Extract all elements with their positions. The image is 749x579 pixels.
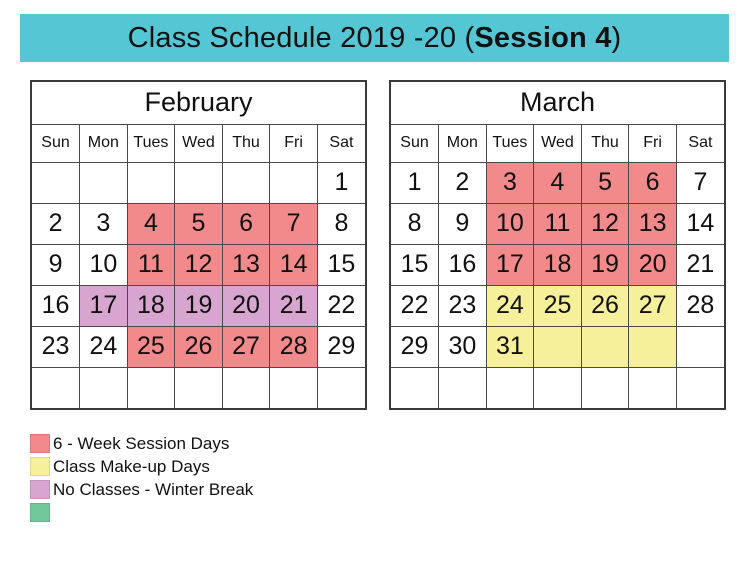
day-cell-february-5[interactable]: 5	[175, 203, 223, 244]
week-row: 15161718192021	[391, 244, 724, 285]
week-row: 891011121314	[391, 203, 724, 244]
day-cell-march-23[interactable]: 23	[439, 285, 487, 326]
day-header-thu: Thu	[581, 124, 629, 162]
day-cell-february-11[interactable]: 11	[127, 244, 175, 285]
day-cell-empty	[317, 367, 365, 408]
week-row: 1234567	[391, 162, 724, 203]
day-cell-february-22[interactable]: 22	[317, 285, 365, 326]
page-title-session: Session 4	[474, 22, 611, 54]
day-cell-february-6[interactable]: 6	[222, 203, 270, 244]
day-cell-empty	[32, 162, 80, 203]
day-cell-march-18[interactable]: 18	[534, 244, 582, 285]
day-cell-empty	[439, 367, 487, 408]
day-cell-march-8[interactable]: 8	[391, 203, 439, 244]
day-cell-empty	[80, 367, 128, 408]
day-cell-february-21[interactable]: 21	[270, 285, 318, 326]
day-cell-february-7[interactable]: 7	[270, 203, 318, 244]
day-cell-february-2[interactable]: 2	[32, 203, 80, 244]
day-cell-march-26[interactable]: 26	[581, 285, 629, 326]
day-cell-march-11[interactable]: 11	[534, 203, 582, 244]
day-cell-march-15[interactable]: 15	[391, 244, 439, 285]
day-cell-empty	[534, 367, 582, 408]
calendar-february: FebruarySunMonTuesWedThuFriSat1234567891…	[30, 80, 367, 410]
day-cell-march-6[interactable]: 6	[629, 162, 677, 203]
day-header-sun: Sun	[391, 124, 439, 162]
day-header-row: SunMonTuesWedThuFriSat	[391, 124, 724, 162]
day-header-fri: Fri	[270, 124, 318, 162]
day-header-row: SunMonTuesWedThuFriSat	[32, 124, 365, 162]
page-title: Class Schedule 2019 -20 (Session 4)	[128, 22, 622, 55]
day-cell-march-21[interactable]: 21	[676, 244, 724, 285]
legend-label: No Classes - Winter Break	[53, 480, 253, 499]
month-title-february: February	[32, 82, 365, 124]
legend-item: No Classes - Winter Break	[30, 478, 450, 500]
week-row	[391, 367, 724, 408]
day-header-sun: Sun	[32, 124, 80, 162]
day-header-fri: Fri	[629, 124, 677, 162]
day-cell-february-27[interactable]: 27	[222, 326, 270, 367]
day-header-wed: Wed	[534, 124, 582, 162]
day-cell-february-18[interactable]: 18	[127, 285, 175, 326]
day-cell-february-24[interactable]: 24	[80, 326, 128, 367]
day-header-thu: Thu	[222, 124, 270, 162]
legend-item: 6 - Week Session Days	[30, 432, 450, 454]
month-title-row: March	[391, 82, 724, 124]
day-cell-march-19[interactable]: 19	[581, 244, 629, 285]
day-cell-february-12[interactable]: 12	[175, 244, 223, 285]
page-title-suffix: )	[612, 22, 622, 54]
day-cell-february-19[interactable]: 19	[175, 285, 223, 326]
day-cell-march-14[interactable]: 14	[676, 203, 724, 244]
day-cell-february-20[interactable]: 20	[222, 285, 270, 326]
day-cell-march-29[interactable]: 29	[391, 326, 439, 367]
legend-swatch-red-icon	[30, 434, 50, 453]
day-cell-february-13[interactable]: 13	[222, 244, 270, 285]
day-cell-february-29[interactable]: 29	[317, 326, 365, 367]
calendar-grid-march: MarchSunMonTuesWedThuFriSat1234567891011…	[391, 82, 724, 408]
day-cell-empty	[222, 367, 270, 408]
day-cell-march-10[interactable]: 10	[486, 203, 534, 244]
day-cell-empty	[581, 326, 629, 367]
day-cell-march-12[interactable]: 12	[581, 203, 629, 244]
day-cell-empty	[629, 367, 677, 408]
day-cell-march-27[interactable]: 27	[629, 285, 677, 326]
legend-swatch-purple-icon	[30, 480, 50, 499]
day-header-tues: Tues	[486, 124, 534, 162]
day-cell-empty	[175, 162, 223, 203]
day-cell-march-17[interactable]: 17	[486, 244, 534, 285]
day-cell-march-2[interactable]: 2	[439, 162, 487, 203]
day-cell-march-9[interactable]: 9	[439, 203, 487, 244]
day-cell-february-15[interactable]: 15	[317, 244, 365, 285]
week-row: 293031	[391, 326, 724, 367]
week-row	[32, 367, 365, 408]
day-cell-empty	[534, 326, 582, 367]
day-cell-february-1[interactable]: 1	[317, 162, 365, 203]
week-row: 2345678	[32, 203, 365, 244]
day-cell-march-3[interactable]: 3	[486, 162, 534, 203]
day-cell-empty	[676, 367, 724, 408]
day-cell-empty	[222, 162, 270, 203]
day-cell-february-3[interactable]: 3	[80, 203, 128, 244]
week-row: 23242526272829	[32, 326, 365, 367]
title-banner: Class Schedule 2019 -20 (Session 4)	[20, 14, 729, 62]
day-header-mon: Mon	[439, 124, 487, 162]
calendar-grid-february: FebruarySunMonTuesWedThuFriSat1234567891…	[32, 82, 365, 408]
day-header-mon: Mon	[80, 124, 128, 162]
legend-item: Class Make-up Days	[30, 455, 450, 477]
day-cell-empty	[32, 367, 80, 408]
day-cell-february-8[interactable]: 8	[317, 203, 365, 244]
legend: 6 - Week Session DaysClass Make-up DaysN…	[30, 432, 450, 524]
legend-label: 6 - Week Session Days	[53, 434, 229, 453]
day-cell-march-4[interactable]: 4	[534, 162, 582, 203]
day-cell-february-28[interactable]: 28	[270, 326, 318, 367]
day-cell-march-1[interactable]: 1	[391, 162, 439, 203]
day-cell-march-25[interactable]: 25	[534, 285, 582, 326]
day-cell-february-4[interactable]: 4	[127, 203, 175, 244]
day-cell-february-14[interactable]: 14	[270, 244, 318, 285]
day-header-wed: Wed	[175, 124, 223, 162]
day-cell-march-5[interactable]: 5	[581, 162, 629, 203]
day-cell-empty	[629, 326, 677, 367]
day-cell-february-25[interactable]: 25	[127, 326, 175, 367]
day-cell-empty	[581, 367, 629, 408]
month-title-march: March	[391, 82, 724, 124]
day-cell-february-26[interactable]: 26	[175, 326, 223, 367]
day-cell-february-10[interactable]: 10	[80, 244, 128, 285]
legend-swatch-green-icon	[30, 503, 50, 522]
week-row: 1	[32, 162, 365, 203]
day-cell-march-20[interactable]: 20	[629, 244, 677, 285]
day-cell-empty	[270, 367, 318, 408]
day-cell-march-30[interactable]: 30	[439, 326, 487, 367]
day-cell-february-23[interactable]: 23	[32, 326, 80, 367]
week-row: 22232425262728	[391, 285, 724, 326]
week-row: 9101112131415	[32, 244, 365, 285]
day-cell-march-22[interactable]: 22	[391, 285, 439, 326]
day-cell-empty	[391, 367, 439, 408]
day-cell-february-9[interactable]: 9	[32, 244, 80, 285]
calendar-march: MarchSunMonTuesWedThuFriSat1234567891011…	[389, 80, 726, 410]
legend-item	[30, 501, 450, 523]
day-cell-empty	[270, 162, 318, 203]
day-cell-march-28[interactable]: 28	[676, 285, 724, 326]
day-cell-february-17[interactable]: 17	[80, 285, 128, 326]
day-header-sat: Sat	[676, 124, 724, 162]
legend-label: Class Make-up Days	[53, 457, 210, 476]
day-cell-empty	[175, 367, 223, 408]
day-cell-march-7[interactable]: 7	[676, 162, 724, 203]
page-title-prefix: Class Schedule 2019 -20 (	[128, 22, 475, 54]
week-row: 16171819202122	[32, 285, 365, 326]
day-cell-empty	[486, 367, 534, 408]
day-cell-empty	[80, 162, 128, 203]
day-header-sat: Sat	[317, 124, 365, 162]
day-cell-march-16[interactable]: 16	[439, 244, 487, 285]
day-cell-empty	[127, 367, 175, 408]
day-cell-march-13[interactable]: 13	[629, 203, 677, 244]
day-cell-march-31[interactable]: 31	[486, 326, 534, 367]
month-title-row: February	[32, 82, 365, 124]
day-header-tues: Tues	[127, 124, 175, 162]
day-cell-february-16[interactable]: 16	[32, 285, 80, 326]
legend-swatch-yellow-icon	[30, 457, 50, 476]
day-cell-empty	[127, 162, 175, 203]
day-cell-march-24[interactable]: 24	[486, 285, 534, 326]
day-cell-empty	[676, 326, 724, 367]
